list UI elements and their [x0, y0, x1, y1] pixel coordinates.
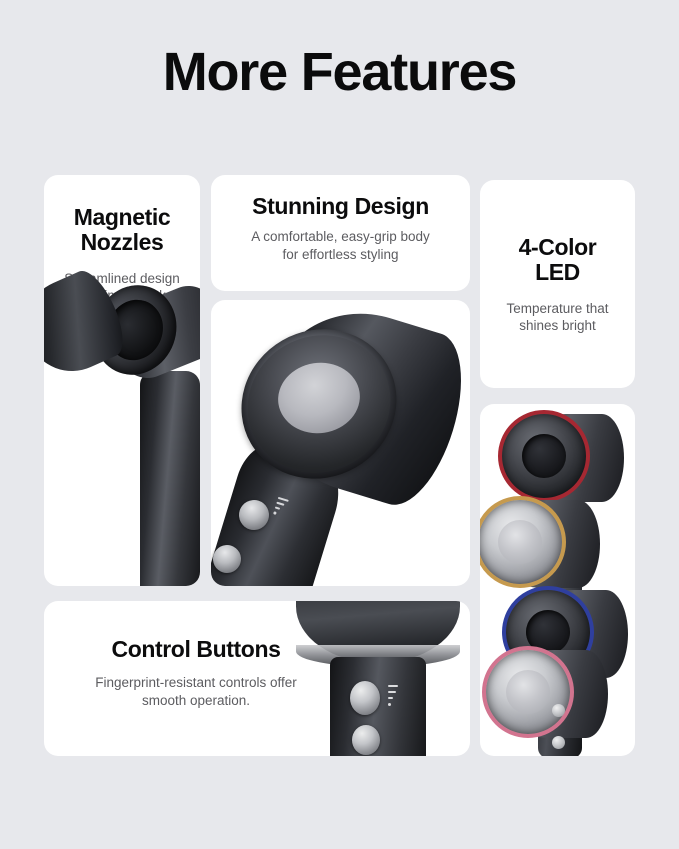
four-color-led-title-line1: 4-Color [519, 234, 597, 260]
led-unit-red [498, 410, 626, 506]
handle-mode-button [552, 736, 565, 749]
power-button [350, 681, 380, 715]
led-color-stack-image-card [480, 404, 635, 756]
barrel-bore [498, 520, 542, 564]
handle-power-button [552, 704, 565, 717]
page-title: More Features [0, 44, 679, 101]
four-color-led-subtitle: Temperature that shines bright [480, 300, 635, 336]
four-color-led-title-line2: LED [535, 259, 580, 285]
control-buttons-product-image [44, 601, 470, 756]
mode-button [352, 725, 380, 755]
stunning-design-subtitle-line1: A comfortable, easy-grip body [251, 229, 430, 244]
led-unit-gold [480, 496, 602, 592]
feature-card-magnetic-nozzles: Magnetic Nozzles Streamlined design that… [44, 175, 200, 586]
barrel-bore [506, 670, 550, 714]
four-color-led-subtitle-line2: shines bright [519, 318, 596, 333]
feature-card-four-color-led: 4-Color LED Temperature that shines brig… [480, 180, 635, 388]
feature-card-stunning-design: Stunning Design A comfortable, easy-grip… [211, 175, 470, 291]
dryer-barrel-angled-image [211, 300, 470, 586]
four-color-led-subtitle-line1: Temperature that [506, 301, 608, 316]
stunning-design-subtitle: A comfortable, easy-grip body for effort… [211, 228, 470, 264]
barrel-bore [522, 434, 566, 478]
stunning-design-title: Stunning Design [211, 194, 470, 219]
four-led-colors-image [480, 404, 635, 756]
led-indicator-bars [388, 685, 398, 710]
dryer-handle-shape [140, 371, 200, 586]
magnetic-nozzle-product-image [44, 175, 200, 586]
led-unit-pink [482, 646, 610, 742]
hero-product-image-card [211, 300, 470, 586]
feature-card-control-buttons: Control Buttons Fingerprint-resistant co… [44, 601, 470, 756]
stunning-design-subtitle-line2: for effortless styling [282, 247, 398, 262]
feature-infographic: More Features Magnetic Nozzles Streamlin… [0, 0, 679, 849]
four-color-led-title: 4-Color LED [480, 235, 635, 286]
